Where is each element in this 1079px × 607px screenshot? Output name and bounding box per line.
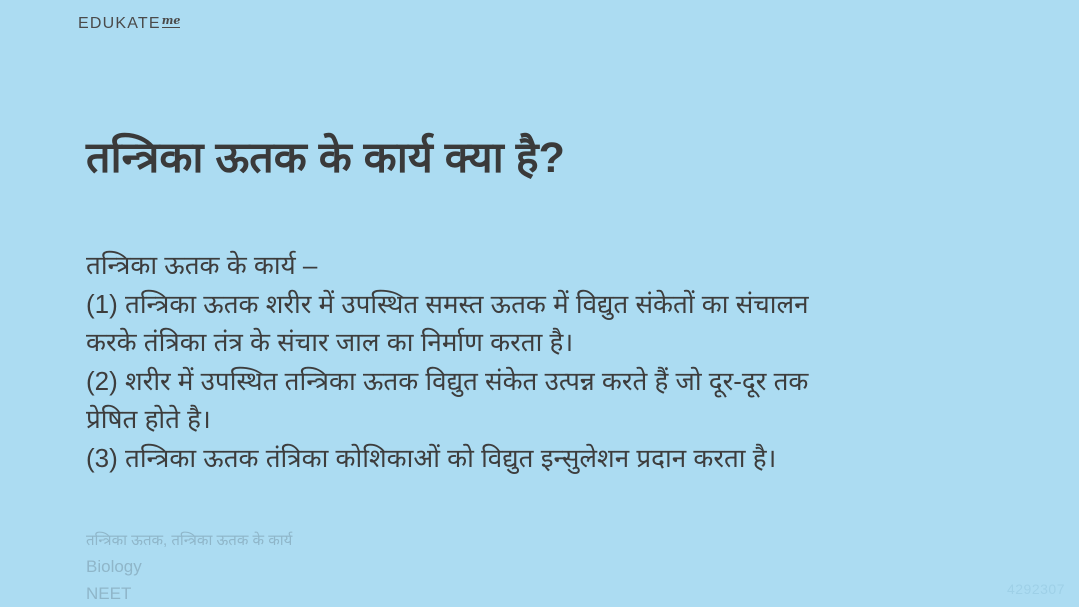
body-line: तन्त्रिका ऊतक के कार्य – <box>86 246 1016 285</box>
footer-tags: तन्त्रिका ऊतक, तन्त्रिका ऊतक के कार्य <box>86 528 292 553</box>
page-title: तन्त्रिका ऊतक के कार्य क्या है? <box>86 133 986 184</box>
logo-suffix: me <box>162 15 181 28</box>
slide-canvas: EDUKATE me तन्त्रिका ऊतक के कार्य क्या ह… <box>0 0 1079 607</box>
footer-metadata: तन्त्रिका ऊतक, तन्त्रिका ऊतक के कार्य Bi… <box>86 528 292 607</box>
body-line: (2) शरीर में उपस्थित तन्त्रिका ऊतक विद्य… <box>86 362 1016 401</box>
body-content: तन्त्रिका ऊतक के कार्य – (1) तन्त्रिका ऊ… <box>86 246 1016 477</box>
body-line: (3) तन्त्रिका ऊतक तंत्रिका कोशिकाओं को व… <box>86 439 1016 478</box>
watermark-id: 4292307 <box>1007 581 1065 597</box>
footer-exam: NEET <box>86 580 292 607</box>
body-line: प्रेषित होते है। <box>86 400 1016 439</box>
logo-wordmark: EDUKATE <box>78 16 161 32</box>
body-line: (1) तन्त्रिका ऊतक शरीर में उपस्थित समस्त… <box>86 285 1016 324</box>
body-line: करके तंत्रिका तंत्र के संचार जाल का निर्… <box>86 323 1016 362</box>
footer-subject: Biology <box>86 553 292 580</box>
edukate-logo[interactable]: EDUKATE me <box>78 16 180 32</box>
